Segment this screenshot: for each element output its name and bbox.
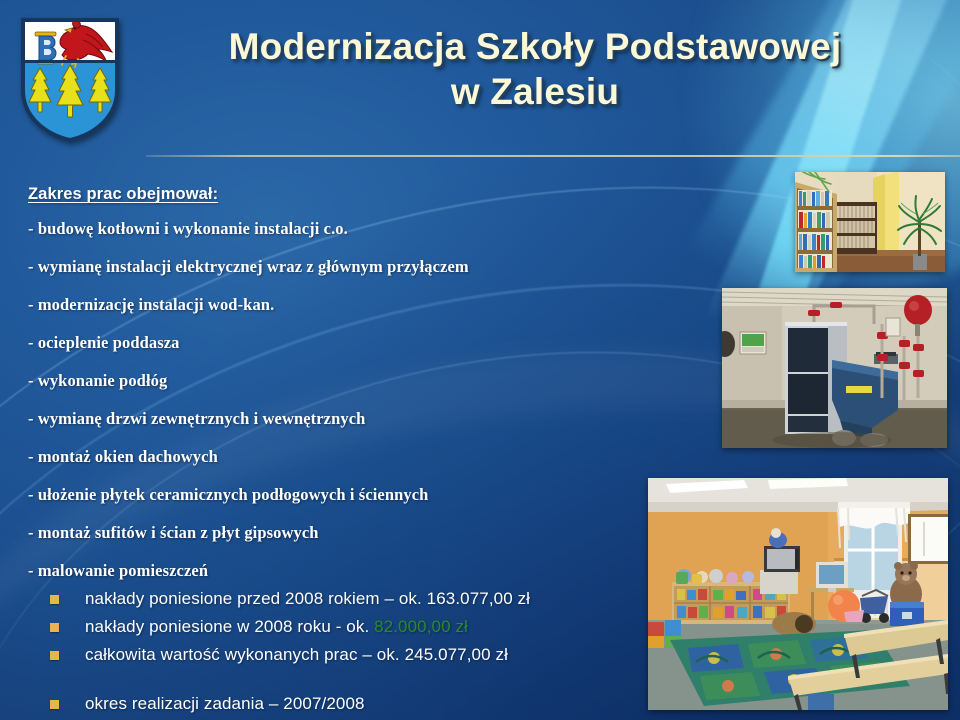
scope-item: - budowę kotłowni i wykonanie instalacji… [28,220,668,239]
scope-item: - malowanie pomieszczeń [28,562,668,581]
presentation-slide: Modernizacja Szkoły Podstawowej w Zalesi… [0,0,960,720]
scope-item: - ułożenie płytek ceramicznych podłogowy… [28,486,668,505]
bullet-square-icon [50,700,59,709]
cost-text-prefix: okres realizacji zadania – 2007/2008 [85,694,365,713]
cost-text-prefix: całkowita wartość wykonanych prac – ok. … [85,645,508,664]
slide-title-line2: w Zalesiu [140,69,930,114]
slide-title-line1: Modernizacja Szkoły Podstawowej [140,24,930,69]
cost-text-prefix: nakłady poniesione przed 2008 rokiem – o… [85,589,530,608]
scope-item: - wymianę instalacji elektrycznej wraz z… [28,258,668,277]
photo-boiler-room [722,288,947,448]
cost-text-prefix: nakłady poniesione w 2008 roku - ok. [85,617,374,636]
bullet-square-icon [50,595,59,604]
scope-item: - modernizację instalacji wod-kan. [28,296,668,315]
scope-item: - montaż sufitów i ścian z płyt gipsowyc… [28,524,668,543]
scope-item: - wymianę drzwi zewnętrznych i wewnętrzn… [28,410,668,429]
bullet-square-icon [50,623,59,632]
scope-list: - budowę kotłowni i wykonanie instalacji… [28,220,668,581]
photo-library [795,172,945,272]
cost-text: okres realizacji zadania – 2007/2008 [85,693,365,716]
scope-item: - ocieplenie poddasza [28,334,668,353]
cost-row: nakłady poniesione przed 2008 rokiem – o… [44,588,664,611]
title-divider [146,155,960,157]
scope-heading: Zakres prac obejmował: [28,185,668,204]
cost-text: całkowita wartość wykonanych prac – ok. … [85,644,508,667]
cost-text: nakłady poniesione w 2008 roku - ok. 82.… [85,616,468,639]
cost-summary-list: nakłady poniesione przed 2008 rokiem – o… [44,588,664,720]
cost-row: całkowita wartość wykonanych prac – ok. … [44,644,664,667]
cost-row: okres realizacji zadania – 2007/2008 [44,693,664,716]
scope-item: - wykonanie podłóg [28,372,668,391]
coat-of-arms-crest [18,16,122,144]
scope-item: - montaż okien dachowych [28,448,668,467]
cost-text: nakłady poniesione przed 2008 rokiem – o… [85,588,530,611]
cost-amount-highlight: 82.000,00 zł [374,617,468,636]
cost-row: nakłady poniesione w 2008 roku - ok. 82.… [44,616,664,639]
slide-title: Modernizacja Szkoły Podstawowej w Zalesi… [140,24,930,114]
scope-of-works-section: Zakres prac obejmował: - budowę kotłowni… [28,185,668,600]
bullet-square-icon [50,651,59,660]
photo-classroom [648,478,948,710]
